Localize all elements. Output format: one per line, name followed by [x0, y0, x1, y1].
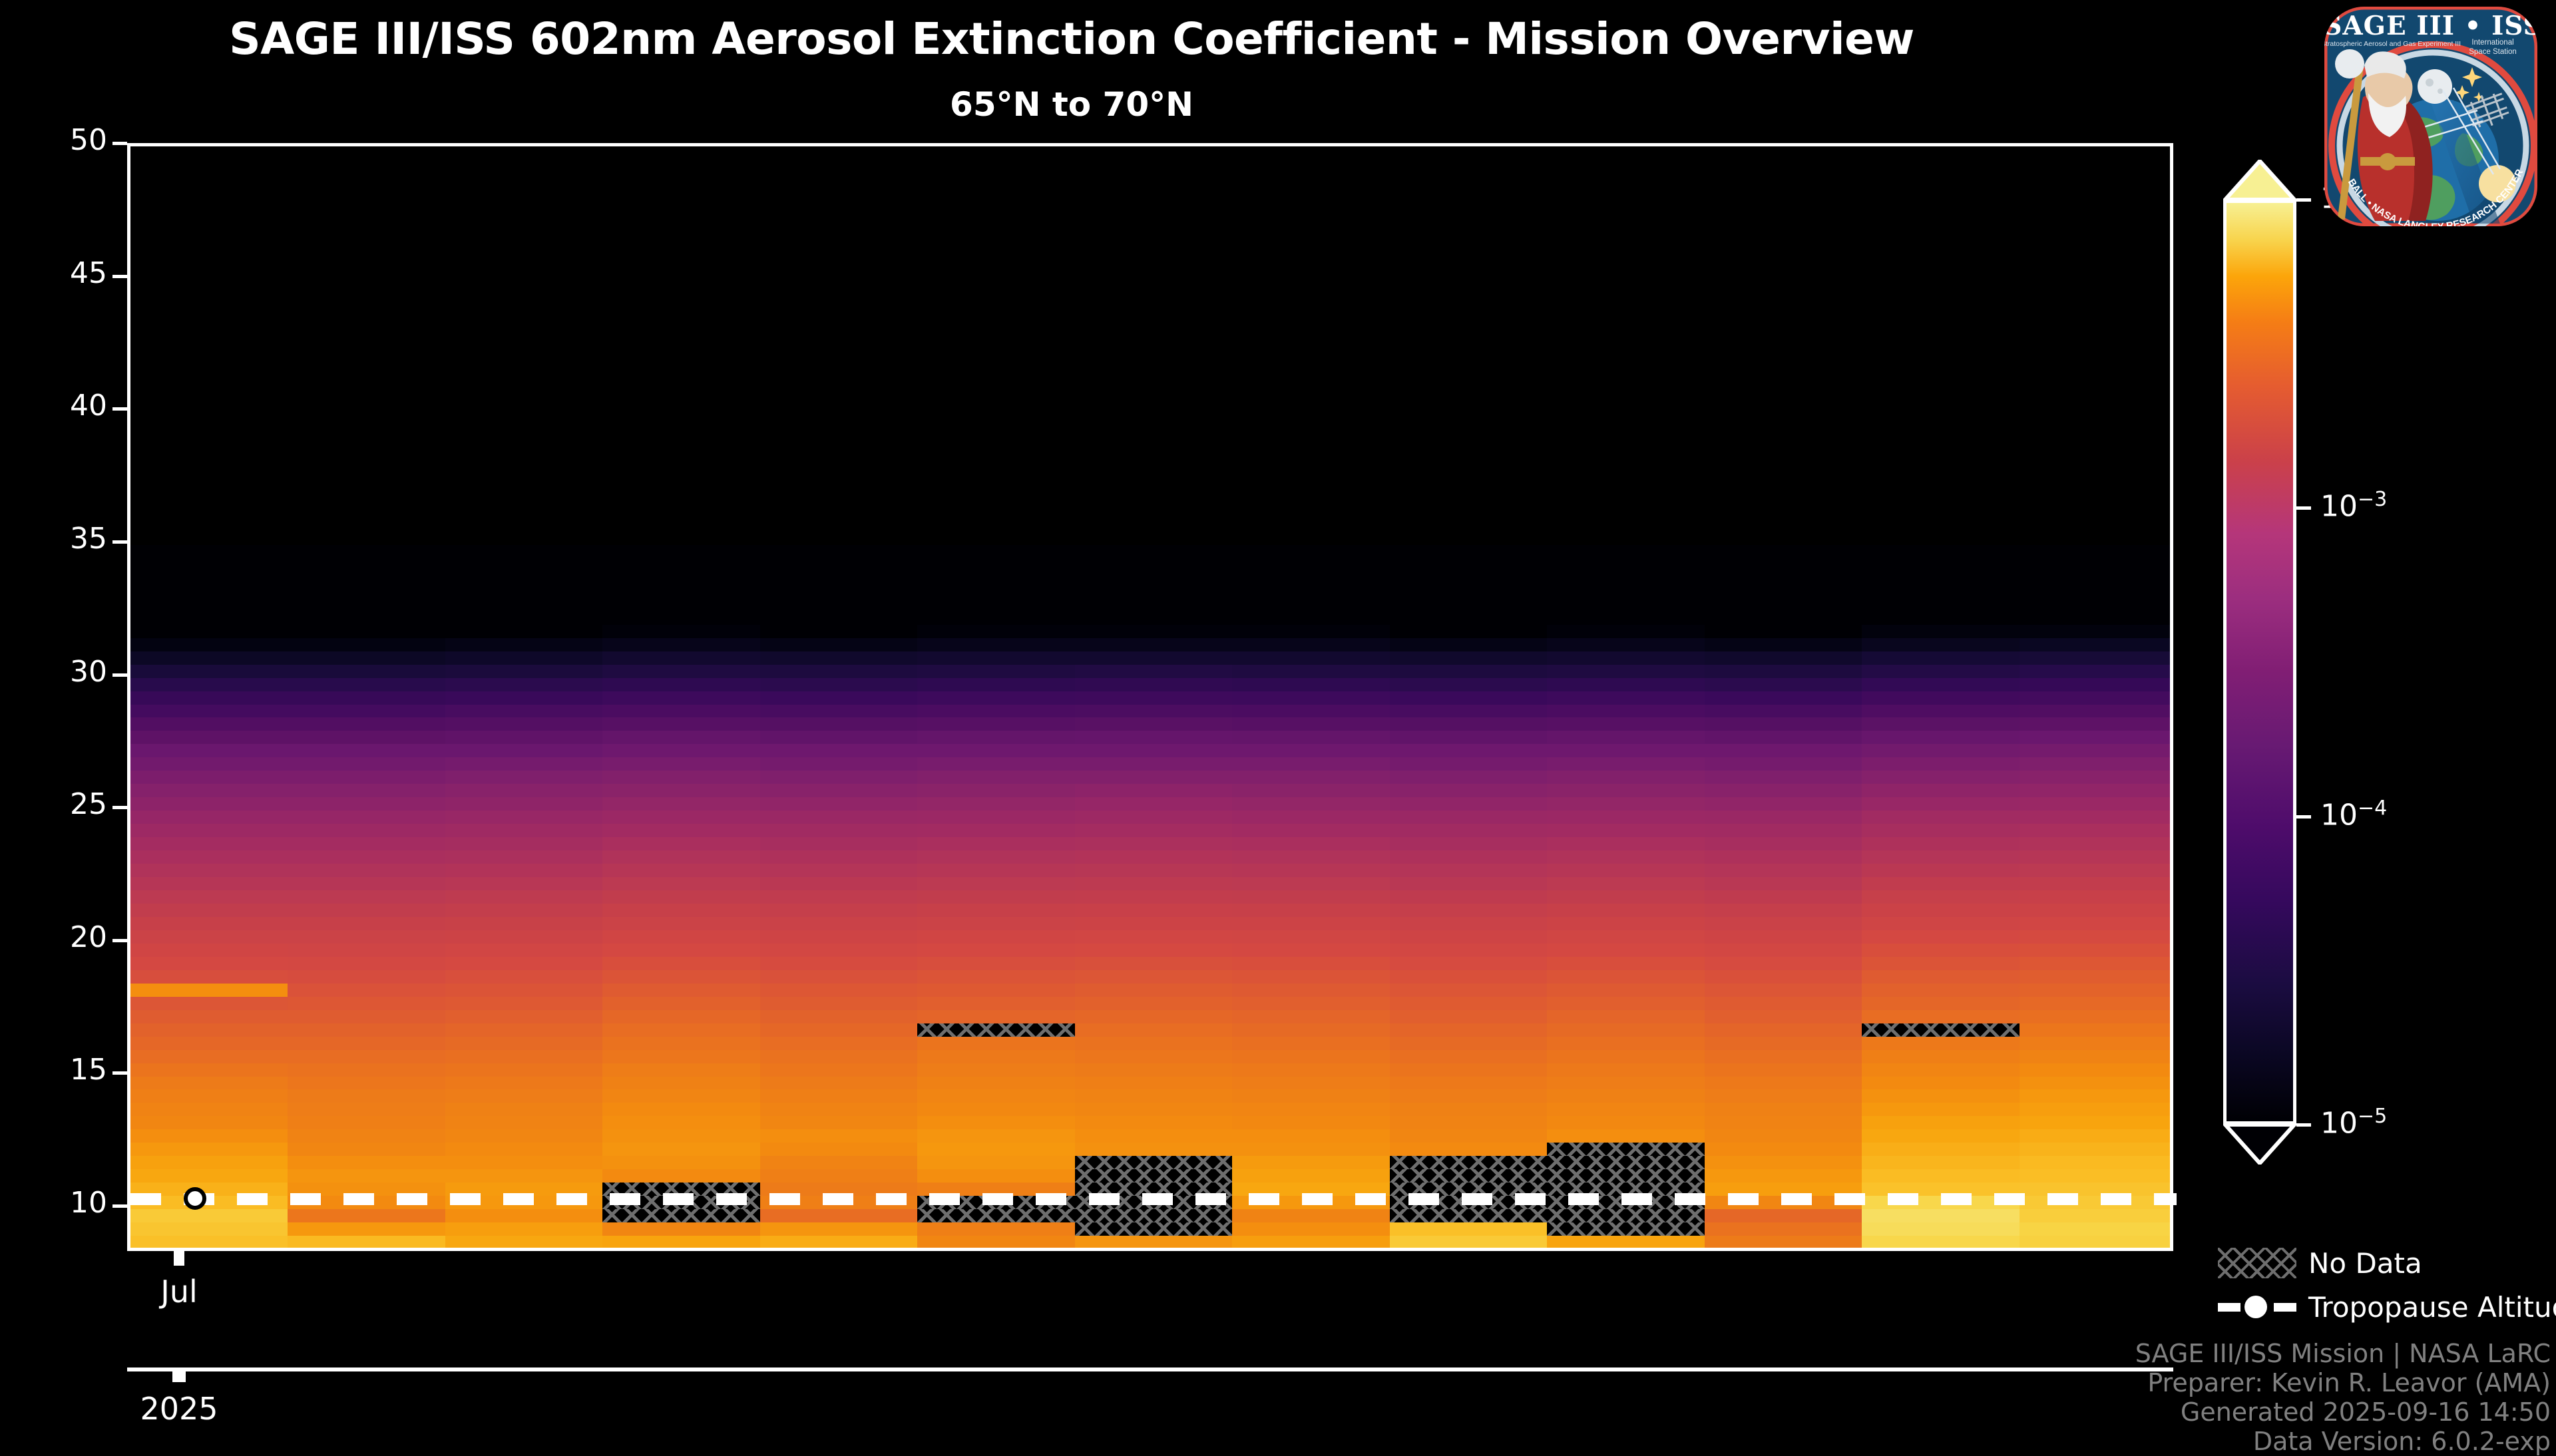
- heatmap-cell: [1862, 837, 2020, 850]
- heatmap-cell: [1390, 717, 1548, 731]
- y-tick-label-10: 10: [0, 1186, 107, 1220]
- no-data-region: [1075, 1169, 1233, 1183]
- heatmap-cell: [602, 1037, 760, 1050]
- heatmap-cell: [1862, 612, 2020, 625]
- heatmap-cell: [1075, 731, 1233, 744]
- heatmap-cell: [1075, 1116, 1233, 1129]
- heatmap-cell: [1862, 1222, 2020, 1236]
- heatmap-cell: [445, 944, 603, 957]
- heatmap-cell: [445, 1222, 603, 1236]
- heatmap-cell: [1862, 1063, 2020, 1077]
- heatmap-cell: [2020, 970, 2170, 984]
- heatmap-cell: [130, 797, 288, 811]
- heatmap-cell: [1390, 651, 1548, 665]
- heatmap-cell: [1075, 1023, 1233, 1037]
- heatmap-cell: [288, 771, 445, 784]
- heatmap-cell: [1390, 1076, 1548, 1089]
- heatmap-cell: [1547, 717, 1705, 731]
- heatmap-cell: [130, 917, 288, 930]
- heatmap-cell: [1705, 572, 1862, 585]
- heatmap-cell: [130, 651, 288, 665]
- heatmap-cell: [1705, 612, 1862, 625]
- heatmap-cell: [1390, 731, 1548, 744]
- heatmap-cell: [1862, 917, 2020, 930]
- no-data-region: [1390, 1169, 1548, 1183]
- heatmap-cell: [602, 890, 760, 904]
- heatmap-cell: [917, 678, 1075, 691]
- heatmap-cell: [445, 877, 603, 890]
- heatmap-cell: [288, 837, 445, 850]
- heatmap-cell: [917, 904, 1075, 917]
- heatmap-cell: [445, 1129, 603, 1143]
- heatmap-cell: [760, 1089, 918, 1103]
- heatmap-cell: [1390, 877, 1548, 890]
- heatmap-cell: [288, 704, 445, 717]
- heatmap-cell: [130, 717, 288, 731]
- heatmap-cell: [288, 1222, 445, 1236]
- heatmap-cell: [1075, 638, 1233, 651]
- heatmap-cell: [1547, 890, 1705, 904]
- heatmap-cell: [602, 651, 760, 665]
- heatmap-cell: [1232, 1023, 1390, 1037]
- heatmap-cell: [1232, 731, 1390, 744]
- heatmap-cell: [1547, 771, 1705, 784]
- y-tick-mark: [112, 673, 127, 677]
- heatmap-cell: [288, 1143, 445, 1156]
- heatmap-cell: [917, 824, 1075, 837]
- tropopause-line-icon: [2218, 1292, 2296, 1322]
- colorbar-tick-mark: [2296, 506, 2311, 510]
- heatmap-cell: [1705, 598, 1862, 612]
- heatmap-cell: [602, 585, 760, 598]
- heatmap-cell: [917, 731, 1075, 744]
- heatmap-cell: [1075, 612, 1233, 625]
- heatmap-cell: [1075, 1143, 1233, 1156]
- heatmap-cell: [130, 1116, 288, 1129]
- heatmap-cell: [1075, 585, 1233, 598]
- no-data-region: [917, 1023, 1075, 1037]
- heatmap-cell: [1862, 1236, 2020, 1248]
- heatmap-cell: [1232, 585, 1390, 598]
- legend-item-tropopause: Tropopause Altitude: [2218, 1285, 2551, 1329]
- heatmap-cell: [288, 864, 445, 877]
- heatmap-cell: [1390, 970, 1548, 984]
- heatmap-cell: [1705, 1156, 1862, 1169]
- heatmap-cell: [760, 1236, 918, 1248]
- heatmap-cell: [130, 904, 288, 917]
- heatmap-cell: [917, 545, 1075, 558]
- heatmap-cell: [917, 1089, 1075, 1103]
- heatmap-cell: [1390, 612, 1548, 625]
- heatmap-cell: [602, 784, 760, 797]
- heatmap-cell: [602, 824, 760, 837]
- y-tick-label-30: 30: [0, 655, 107, 689]
- heatmap-cell: [917, 797, 1075, 811]
- footer-line-mission: SAGE III/ISS Mission | NASA LaRC: [1818, 1339, 2551, 1368]
- heatmap-cell: [288, 824, 445, 837]
- heatmap-cell: [1232, 665, 1390, 678]
- page-subtitle: 65°N to 70°N: [0, 85, 2143, 124]
- heatmap-cell: [1862, 904, 2020, 917]
- heatmap-cell: [288, 984, 445, 997]
- heatmap-cell: [445, 824, 603, 837]
- heatmap-cell: [917, 917, 1075, 930]
- heatmap-cell: [1390, 944, 1548, 957]
- heatmap-cell: [1547, 1010, 1705, 1023]
- heatmap-cell: [1232, 1236, 1390, 1248]
- heatmap-cell: [602, 957, 760, 970]
- heatmap-cell: [760, 771, 918, 784]
- heatmap-cell: [1390, 1222, 1548, 1236]
- heatmap-cell: [288, 1023, 445, 1037]
- heatmap-cell: [917, 984, 1075, 997]
- heatmap-cell: [1862, 784, 2020, 797]
- heatmap-cell: [1705, 1023, 1862, 1037]
- heatmap-cell: [917, 997, 1075, 1010]
- heatmap-cell: [917, 598, 1075, 612]
- heatmap-cell: [288, 665, 445, 678]
- no-data-region: [1075, 1156, 1233, 1169]
- heatmap-cell: [1547, 1050, 1705, 1063]
- heatmap-cell: [2020, 904, 2170, 917]
- heatmap-cell: [1232, 997, 1390, 1010]
- heatmap-cell: [1232, 1076, 1390, 1089]
- no-data-region: [1547, 1143, 1705, 1156]
- heatmap-cell: [2020, 930, 2170, 944]
- heatmap-cell: [760, 638, 918, 651]
- heatmap-cell: [2020, 757, 2170, 771]
- heatmap-plot[interactable]: [127, 143, 2173, 1251]
- heatmap-cell: [288, 1010, 445, 1023]
- heatmap-cell: [445, 1037, 603, 1050]
- heatmap-cell: [760, 1169, 918, 1183]
- heatmap-cell: [1232, 558, 1390, 572]
- no-data-region: [602, 1209, 760, 1222]
- heatmap-cell: [1862, 1116, 2020, 1129]
- y-tick-mark: [112, 1204, 127, 1208]
- heatmap-cell: [1862, 1076, 2020, 1089]
- heatmap-cell: [1232, 545, 1390, 558]
- heatmap-cell: [1232, 944, 1390, 957]
- heatmap-cell: [1232, 1089, 1390, 1103]
- heatmap-cell: [130, 984, 288, 997]
- colorbar-tick-mark: [2296, 1123, 2311, 1127]
- heatmap-cell: [445, 984, 603, 997]
- heatmap-cell: [1232, 957, 1390, 970]
- y-tick-label-35: 35: [0, 522, 107, 556]
- heatmap-cell: [130, 704, 288, 717]
- heatmap-cell: [1390, 1010, 1548, 1023]
- heatmap-cell: [445, 625, 603, 638]
- heatmap-cell: [760, 890, 918, 904]
- heatmap-cell: [1862, 1129, 2020, 1143]
- heatmap-cell: [1862, 890, 2020, 904]
- heatmap-cell: [1862, 970, 2020, 984]
- colorbar-min-arrow-icon: [2223, 1123, 2296, 1165]
- heatmap-cell: [1075, 598, 1233, 612]
- heatmap-cell: [288, 1116, 445, 1129]
- heatmap-cell: [445, 717, 603, 731]
- legend-label-no-data: No Data: [2308, 1247, 2422, 1280]
- heatmap-cell: [1390, 678, 1548, 691]
- heatmap-cell: [1547, 572, 1705, 585]
- heatmap-cell: [445, 545, 603, 558]
- heatmap-cell: [288, 850, 445, 864]
- no-data-region: [1547, 1156, 1705, 1169]
- heatmap-cell: [1075, 864, 1233, 877]
- heatmap-cell: [2020, 638, 2170, 651]
- heatmap-cell: [1705, 1236, 1862, 1248]
- heatmap-cell: [288, 957, 445, 970]
- heatmap-cell: [1390, 1143, 1548, 1156]
- heatmap-cell: [1232, 1037, 1390, 1050]
- heatmap-cell: [1232, 1169, 1390, 1183]
- logo-title: SAGE III • ISS: [2323, 11, 2543, 41]
- heatmap-cell: [1390, 1116, 1548, 1129]
- heatmap-cell: [1075, 717, 1233, 731]
- heatmap-cell: [288, 717, 445, 731]
- heatmap-cell: [1390, 1050, 1548, 1063]
- heatmap-cell: [130, 691, 288, 705]
- heatmap-cell: [1547, 904, 1705, 917]
- heatmap-cell: [130, 811, 288, 824]
- heatmap-cell: [130, 824, 288, 837]
- heatmap-cell: [1862, 957, 2020, 970]
- heatmap-cell: [445, 665, 603, 678]
- heatmap-cell: [288, 744, 445, 757]
- heatmap-cell: [2020, 704, 2170, 717]
- heatmap-cell: [1547, 1089, 1705, 1103]
- heatmap-cell: [917, 638, 1075, 651]
- heatmap-cell: [760, 957, 918, 970]
- heatmap-cell: [2020, 598, 2170, 612]
- heatmap-cell: [1390, 691, 1548, 705]
- heatmap-cell: [130, 1023, 288, 1037]
- heatmap-cell: [1547, 545, 1705, 558]
- heatmap-cell: [2020, 1209, 2170, 1222]
- heatmap-cell: [1075, 1037, 1233, 1050]
- heatmap-cell: [1075, 1236, 1233, 1248]
- heatmap-cell: [288, 625, 445, 638]
- no-data-hatch-icon: [2218, 1248, 2296, 1278]
- heatmap-cell: [1390, 572, 1548, 585]
- heatmap-cell: [602, 864, 760, 877]
- heatmap-cell: [2020, 1236, 2170, 1248]
- heatmap-cell: [130, 1236, 288, 1248]
- heatmap-cell: [2020, 1076, 2170, 1089]
- heatmap-cell: [445, 811, 603, 824]
- heatmap-cell: [445, 797, 603, 811]
- heatmap-cell: [1075, 837, 1233, 850]
- y-tick-mark: [112, 939, 127, 942]
- heatmap-cell: [2020, 997, 2170, 1010]
- heatmap-cell: [760, 1156, 918, 1169]
- heatmap-cell: [130, 1209, 288, 1222]
- heatmap-cell: [917, 1129, 1075, 1143]
- heatmap-cell: [445, 771, 603, 784]
- heatmap-cell: [1705, 545, 1862, 558]
- heatmap-cell: [1232, 837, 1390, 850]
- heatmap-cell: [1547, 811, 1705, 824]
- heatmap-cell: [1547, 997, 1705, 1010]
- heatmap-cell: [917, 784, 1075, 797]
- heatmap-cell: [1075, 1129, 1233, 1143]
- heatmap-cell: [288, 1063, 445, 1077]
- heatmap-cell: [917, 625, 1075, 638]
- heatmap-cell: [917, 665, 1075, 678]
- heatmap-cell: [1862, 1143, 2020, 1156]
- heatmap-cell: [288, 691, 445, 705]
- heatmap-cell: [2020, 890, 2170, 904]
- heatmap-cell: [1705, 890, 1862, 904]
- heatmap-cell: [445, 837, 603, 850]
- heatmap-cell: [1232, 1143, 1390, 1156]
- heatmap-cell: [288, 1076, 445, 1089]
- heatmap-cell: [2020, 1143, 2170, 1156]
- heatmap-cell: [130, 1156, 288, 1169]
- heatmap-cell: [445, 731, 603, 744]
- heatmap-cell: [1075, 558, 1233, 572]
- heatmap-cell: [130, 1103, 288, 1116]
- heatmap-cell: [2020, 1222, 2170, 1236]
- heatmap-cell: [288, 1089, 445, 1103]
- heatmap-cell: [1075, 930, 1233, 944]
- heatmap-cell: [1547, 585, 1705, 598]
- no-data-region: [1075, 1222, 1233, 1236]
- colorbar[interactable]: [2223, 160, 2296, 1165]
- heatmap-cell: [1232, 1116, 1390, 1129]
- tropopause-line: [130, 1193, 2177, 1205]
- heatmap-cell: [917, 1076, 1075, 1089]
- heatmap-cell: [130, 930, 288, 944]
- legend-item-no-data: No Data: [2218, 1241, 2551, 1285]
- heatmap-cell: [1547, 877, 1705, 890]
- heatmap-cell: [1547, 1236, 1705, 1248]
- heatmap-cell: [1075, 917, 1233, 930]
- heatmap-cell: [130, 1050, 288, 1063]
- heatmap-cell: [760, 1116, 918, 1129]
- y-tick-mark: [112, 806, 127, 809]
- no-data-region: [1862, 1023, 2020, 1037]
- heatmap-cell: [760, 625, 918, 638]
- heatmap-cell: [1232, 638, 1390, 651]
- heatmap-cell: [2020, 1169, 2170, 1183]
- heatmap-cell: [130, 585, 288, 598]
- heatmap-cell: [602, 1050, 760, 1063]
- heatmap-cell: [917, 572, 1075, 585]
- heatmap-cell: [445, 585, 603, 598]
- heatmap-cell: [1862, 984, 2020, 997]
- heatmap-cell: [1862, 757, 2020, 771]
- heatmap-cell: [917, 1063, 1075, 1077]
- heatmap-cell: [602, 930, 760, 944]
- heatmap-cell: [1705, 1103, 1862, 1116]
- heatmap-cell: [2020, 744, 2170, 757]
- heatmap-cell: [130, 1143, 288, 1156]
- heatmap-cell: [2020, 731, 2170, 744]
- heatmap-cell: [760, 864, 918, 877]
- heatmap-cell: [760, 944, 918, 957]
- heatmap-cell: [1705, 930, 1862, 944]
- heatmap-cell: [917, 944, 1075, 957]
- heatmap-cell: [1232, 678, 1390, 691]
- heatmap-cell: [1862, 944, 2020, 957]
- heatmap-cell: [1232, 1129, 1390, 1143]
- heatmap-cell: [1390, 638, 1548, 651]
- heatmap-cell: [602, 970, 760, 984]
- heatmap-cell: [130, 572, 288, 585]
- heatmap-cell: [445, 850, 603, 864]
- heatmap-cell: [2020, 612, 2170, 625]
- heatmap-cell: [1232, 930, 1390, 944]
- heatmap-cell: [1862, 558, 2020, 572]
- heatmap-cell: [1862, 771, 2020, 784]
- heatmap-cell: [445, 997, 603, 1010]
- heatmap-cell: [2020, 651, 2170, 665]
- heatmap-cell: [1390, 704, 1548, 717]
- year-label: 2025: [46, 1391, 312, 1427]
- heatmap-cell: [1075, 811, 1233, 824]
- heatmap-cell: [1390, 784, 1548, 797]
- heatmap-cell: [760, 797, 918, 811]
- heatmap-cell: [288, 797, 445, 811]
- heatmap-cell: [2020, 1050, 2170, 1063]
- heatmap-cell: [2020, 572, 2170, 585]
- heatmap-cell: [760, 824, 918, 837]
- heatmap-cell: [1547, 784, 1705, 797]
- heatmap-cell: [1547, 984, 1705, 997]
- heatmap-cell: [1232, 784, 1390, 797]
- heatmap-cell: [1232, 1222, 1390, 1236]
- heatmap-cell: [602, 731, 760, 744]
- heatmap-cell: [445, 704, 603, 717]
- heatmap-cell: [445, 558, 603, 572]
- heatmap-cell: [1232, 917, 1390, 930]
- heatmap-cell: [445, 1089, 603, 1103]
- heatmap-cell: [445, 651, 603, 665]
- heatmap-cell: [1705, 1169, 1862, 1183]
- heatmap-cell: [445, 890, 603, 904]
- heatmap-cell: [1390, 1103, 1548, 1116]
- heatmap-cell: [2020, 864, 2170, 877]
- heatmap-cell: [1390, 598, 1548, 612]
- heatmap-cell: [130, 890, 288, 904]
- heatmap-cell: [1390, 558, 1548, 572]
- heatmap-cell: [1075, 757, 1233, 771]
- heatmap-cell: [288, 784, 445, 797]
- footer-line-version: Data Version: 6.0.2-exp: [1818, 1427, 2551, 1456]
- heatmap-cell: [1390, 890, 1548, 904]
- heatmap-cell: [1232, 598, 1390, 612]
- heatmap-cell: [1390, 824, 1548, 837]
- heatmap-cell: [760, 545, 918, 558]
- heatmap-cell: [1232, 1063, 1390, 1077]
- heatmap-cell: [2020, 1129, 2170, 1143]
- heatmap-cell: [917, 1116, 1075, 1129]
- heatmap-cell: [1390, 744, 1548, 757]
- heatmap-cell: [1232, 1103, 1390, 1116]
- heatmap-cell: [1232, 757, 1390, 771]
- no-data-region: [1547, 1222, 1705, 1236]
- heatmap-cell: [1862, 651, 2020, 665]
- heatmap-cell: [917, 850, 1075, 864]
- heatmap-cell: [130, 864, 288, 877]
- heatmap-cell: [1390, 1089, 1548, 1103]
- heatmap-cell: [130, 1037, 288, 1050]
- heatmap-cell: [130, 1169, 288, 1183]
- heatmap-cell: [1862, 1103, 2020, 1116]
- heatmap-cell: [602, 638, 760, 651]
